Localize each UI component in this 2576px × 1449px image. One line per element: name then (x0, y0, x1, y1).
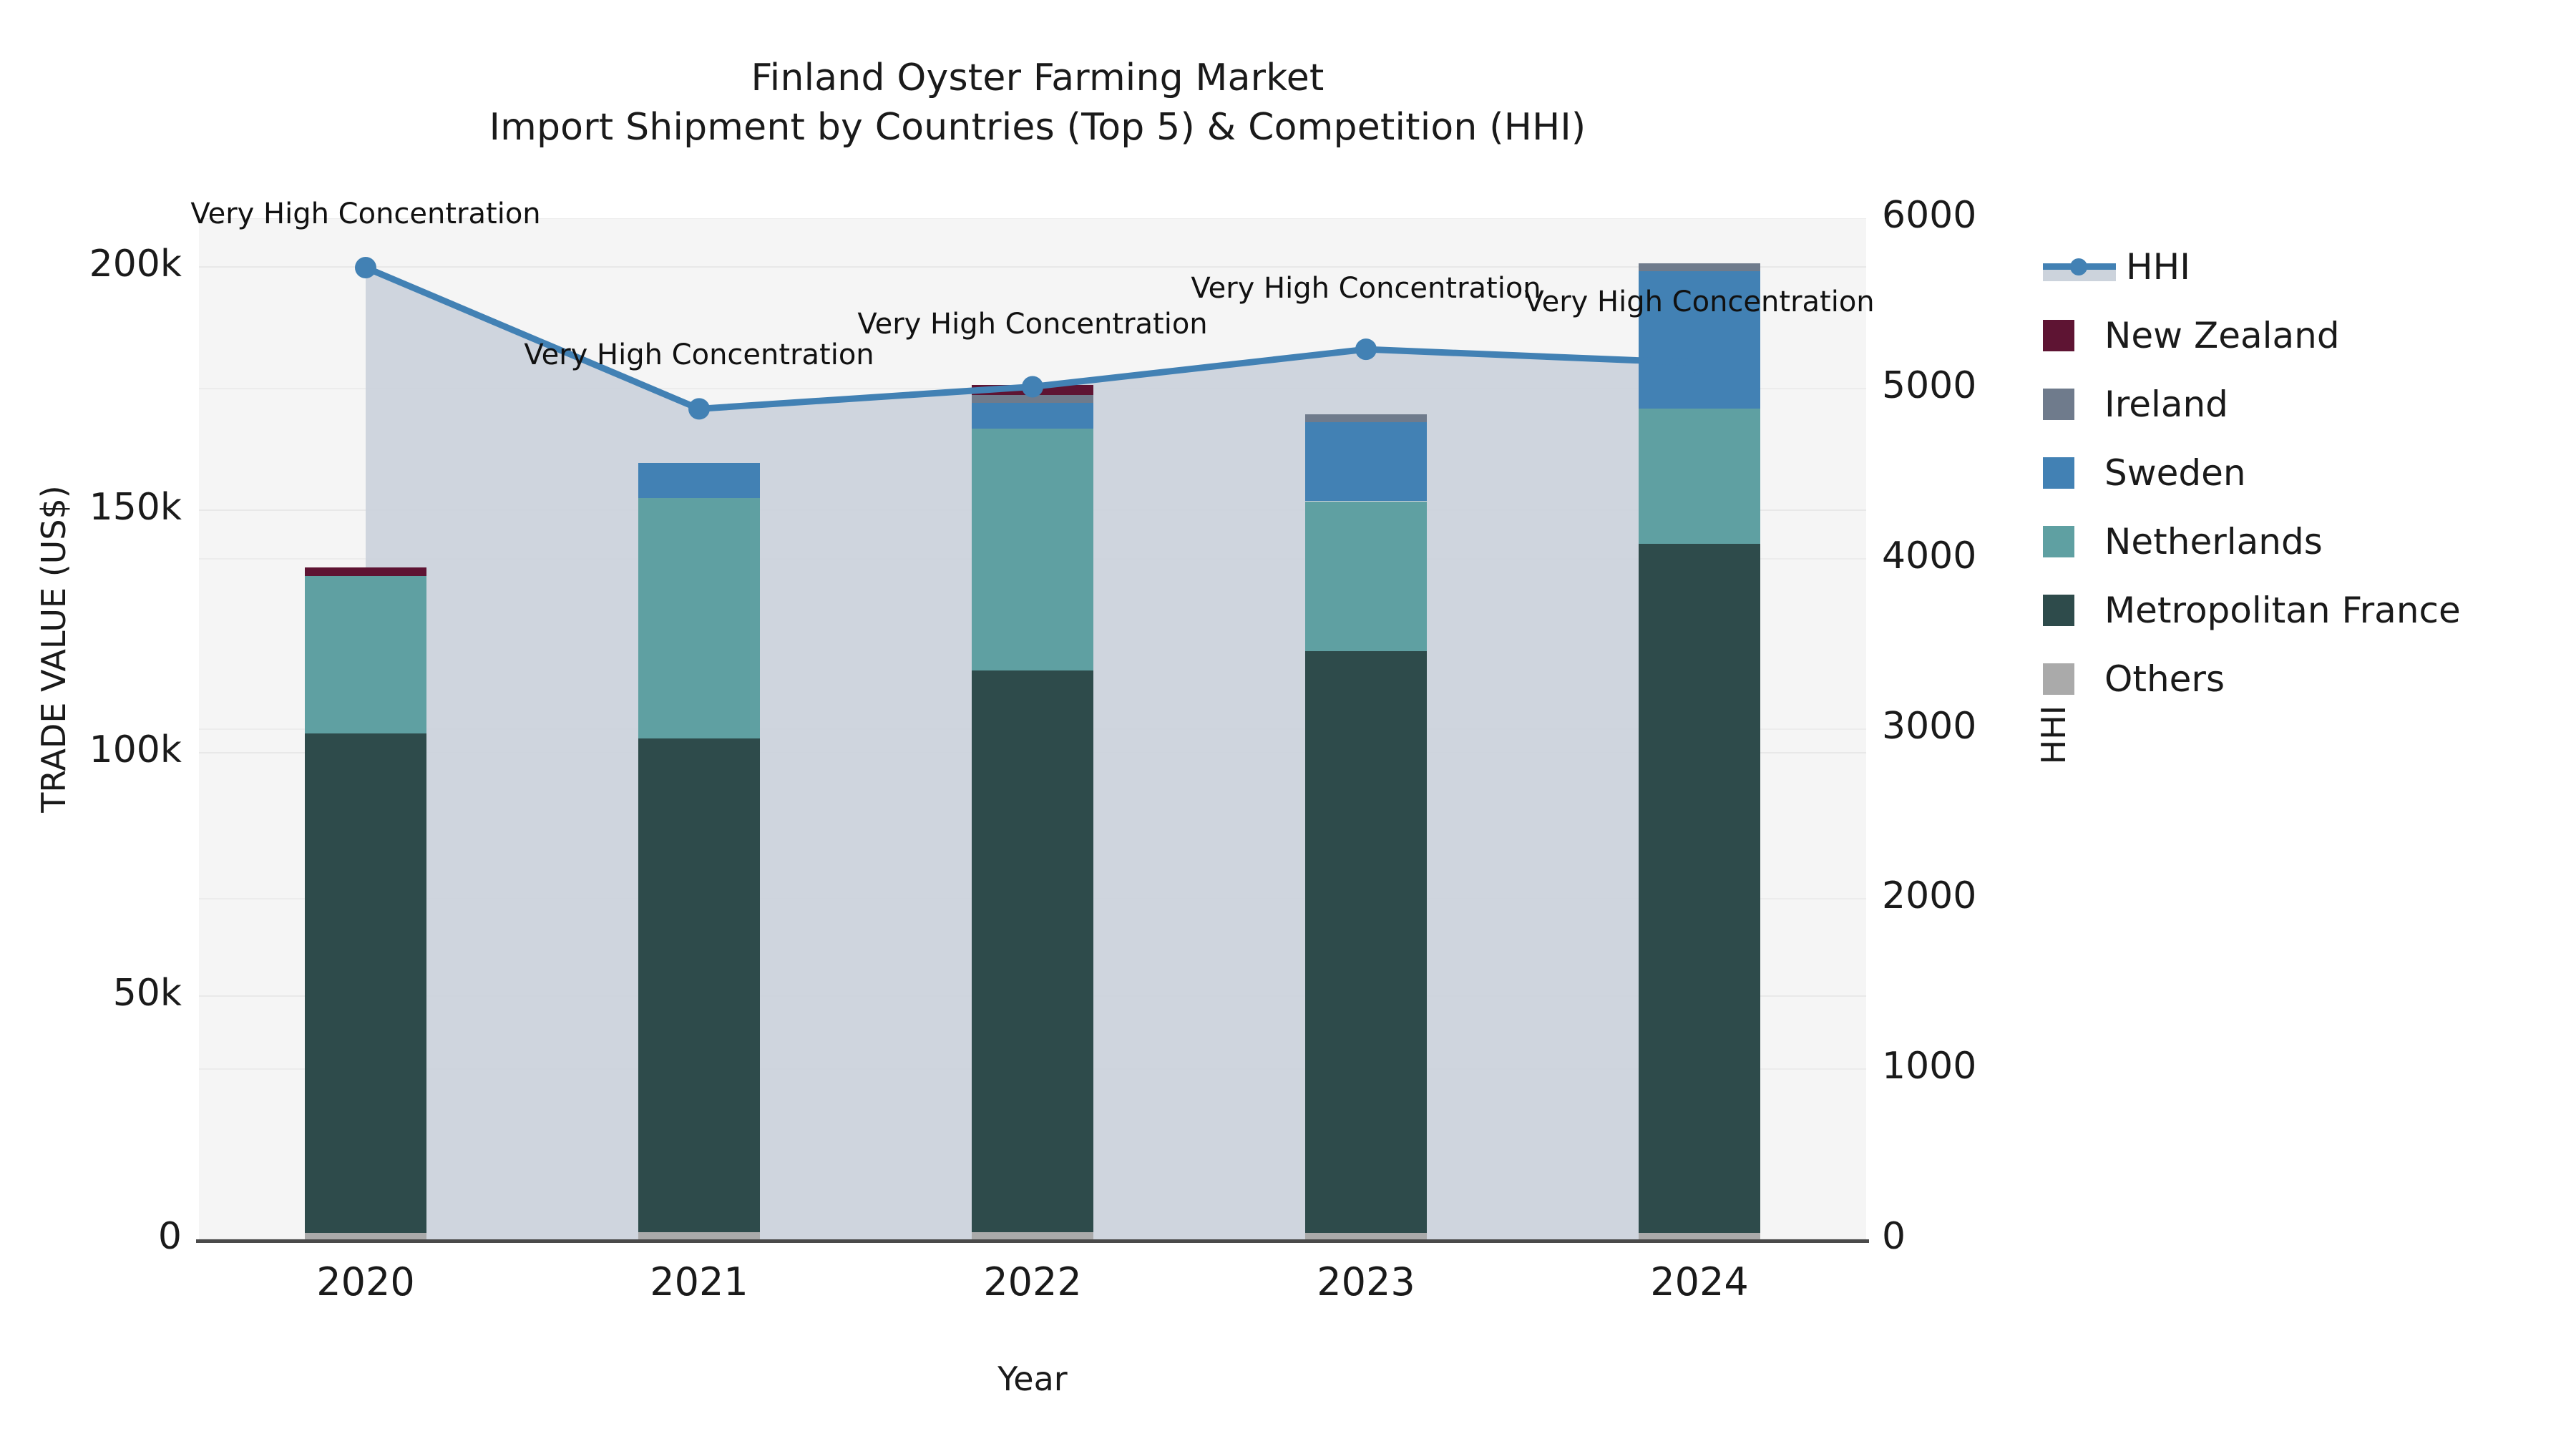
y-tick-label-left: 0 (0, 1215, 182, 1258)
legend-line-icon (2043, 251, 2116, 283)
y-tick-label-right: 1000 (1882, 1045, 1976, 1088)
legend-item-sweden[interactable]: Sweden (2043, 439, 2558, 507)
hhi-data-point[interactable] (1355, 338, 1377, 360)
legend-label: HHI (2126, 246, 2190, 288)
chart-figure: Finland Oyster Farming Market Import Shi… (0, 0, 2576, 1449)
hhi-annotation: Very High Concentration (1187, 272, 1545, 305)
legend-item-hhi[interactable]: HHI (2043, 233, 2558, 301)
hhi-data-point[interactable] (688, 398, 710, 419)
legend-label: Sweden (2104, 452, 2246, 494)
chart-legend: HHINew ZealandIrelandSwedenNetherlandsMe… (2043, 233, 2558, 713)
legend-color-swatch (2043, 457, 2074, 489)
x-tick-label: 2022 (918, 1259, 1147, 1304)
y-tick-label-left: 50k (0, 972, 182, 1015)
y-tick-label-right: 2000 (1882, 874, 1976, 917)
legend-item-others[interactable]: Others (2043, 645, 2558, 713)
page-title: Finland Oyster Farming Market (0, 54, 2075, 103)
legend-label: Metropolitan France (2104, 590, 2461, 631)
legend-label: Others (2104, 658, 2225, 700)
hhi-data-point[interactable] (1689, 352, 1710, 374)
legend-color-swatch (2043, 320, 2074, 351)
y-tick-label-right: 6000 (1882, 194, 1976, 237)
legend-color-swatch (2043, 595, 2074, 626)
hhi-annotation: Very High Concentration (520, 338, 878, 371)
y-tick-label-right: 5000 (1882, 364, 1976, 407)
y-tick-label-right: 3000 (1882, 705, 1976, 748)
y-axis-label-left: TRADE VALUE (US$) (34, 377, 73, 921)
x-axis-line (196, 1239, 1869, 1243)
x-tick-label: 2023 (1252, 1259, 1480, 1304)
legend-color-swatch (2043, 663, 2074, 695)
legend-label: Netherlands (2104, 521, 2323, 562)
y-tick-label-right: 4000 (1882, 535, 1976, 577)
y-tick-label-left: 200k (0, 243, 182, 286)
hhi-annotation: Very High Concentration (854, 308, 1211, 341)
hhi-annotation: Very High Concentration (187, 197, 545, 230)
x-axis-label: Year (199, 1360, 1866, 1398)
x-tick-label: 2024 (1585, 1259, 1814, 1304)
legend-color-swatch (2043, 389, 2074, 420)
legend-label: Ireland (2104, 384, 2228, 425)
hhi-annotation: Very High Concentration (1521, 286, 1878, 318)
legend-item-ireland[interactable]: Ireland (2043, 370, 2558, 439)
chart-title-block: Finland Oyster Farming Market Import Shi… (0, 54, 2075, 152)
x-tick-label: 2020 (251, 1259, 480, 1304)
legend-item-netherlands[interactable]: Netherlands (2043, 507, 2558, 576)
legend-color-swatch (2043, 526, 2074, 557)
chart-subtitle: Import Shipment by Countries (Top 5) & C… (0, 103, 2075, 152)
hhi-data-point[interactable] (355, 257, 376, 278)
hhi-data-point[interactable] (1022, 376, 1043, 397)
y-tick-label-left: 100k (0, 728, 182, 771)
hhi-line-chart (199, 218, 1866, 1239)
legend-item-metropolitan-france[interactable]: Metropolitan France (2043, 576, 2558, 645)
y-tick-label-left: 150k (0, 486, 182, 529)
y-tick-label-right: 0 (1882, 1215, 1906, 1258)
plot-area (199, 218, 1866, 1239)
x-tick-label: 2021 (585, 1259, 814, 1304)
legend-marker-dot (2070, 258, 2087, 275)
legend-label: New Zealand (2104, 315, 2340, 356)
legend-item-new-zealand[interactable]: New Zealand (2043, 301, 2558, 370)
